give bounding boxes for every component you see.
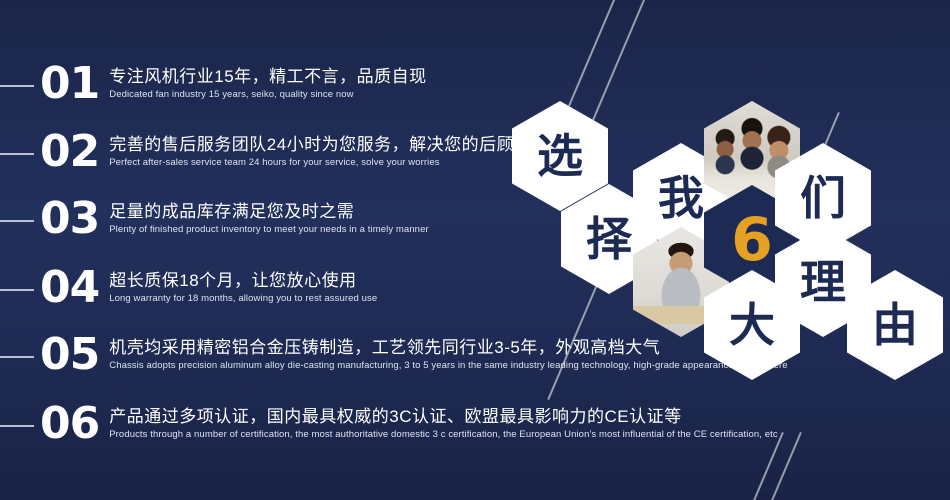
hex-glyph: 理 [800,259,846,305]
reason-text-block: 完善的售后服务团队24小时为您服务，解决您的后顾之忧 Perfect after… [109,134,549,170]
reason-lead-line [0,85,34,87]
reason-lead-line [0,289,34,291]
reason-title-en: Dedicated fan industry 15 years, seiko, … [109,89,426,101]
hex-glyph: 由 [872,302,918,348]
reason-text-block: 专注风机行业15年，精工不言，品质自现 Dedicated fan indust… [109,66,426,102]
hex-cell-photo-team [704,101,800,211]
reason-title-cn: 专注风机行业15年，精工不言，品质自现 [109,66,426,87]
reason-text-block: 机壳均采用精密铝合金压铸制造，工艺领先同行业3-5年，外观高档大气 Chassi… [109,337,787,373]
promo-banner: 01 专注风机行业15年，精工不言，品质自现 Dedicated fan ind… [0,0,950,500]
reason-title-en: Products through a number of certificati… [109,429,777,441]
reason-lead-line [0,356,34,358]
diagonal-line [589,0,649,127]
reason-number: 03 [40,197,99,241]
reason-lead-line [0,425,34,427]
hex-glyph-six: 6 [731,210,773,270]
hex-cell-you: 由 [847,270,943,380]
reason-row: 02 完善的售后服务团队24小时为您服务，解决您的后顾之忧 Perfect af… [0,115,549,189]
hex-glyph: 择 [586,216,632,262]
reason-text-block: 产品通过多项认证，国内最具权威的3C认证、欧盟最具影响力的CE认证等 Produ… [109,406,777,442]
reason-lead-line [0,153,34,155]
reason-title-cn: 产品通过多项认证，国内最具权威的3C认证、欧盟最具影响力的CE认证等 [109,406,777,427]
hex-cell-wo: 我 [633,143,729,253]
hex-cell-six: 6 [704,185,800,295]
hex-glyph: 我 [658,175,704,221]
reason-number: 06 [40,402,99,446]
diagonal-line [546,0,620,159]
reason-number: 04 [40,266,99,310]
reason-number: 05 [40,333,99,377]
hex-cell-ze: 择 [561,184,657,294]
reason-row: 05 机壳均采用精密铝合金压铸制造，工艺领先同行业3-5年，外观高档大气 Cha… [0,318,788,392]
reason-number: 01 [40,62,99,106]
reason-title-en: Perfect after-sales service team 24 hour… [109,157,549,169]
reason-text-block: 足量的成品库存满足您及时之需 Plenty of finished produc… [109,201,428,237]
reason-title-en: Plenty of finished product inventory to … [109,224,428,236]
hex-glyph: 们 [800,175,846,221]
diagonal-line [792,112,840,221]
reason-title-cn: 机壳均采用精密铝合金压铸制造，工艺领先同行业3-5年，外观高档大气 [109,337,787,358]
reason-row: 04 超长质保18个月，让您放心使用 Long warranty for 18 … [0,251,377,325]
reason-row: 01 专注风机行业15年，精工不言，品质自现 Dedicated fan ind… [0,47,427,121]
reason-row: 06 产品通过多项认证，国内最具权威的3C认证、欧盟最具影响力的CE认证等 Pr… [0,387,778,461]
reason-row: 03 足量的成品库存满足您及时之需 Plenty of finished pro… [0,182,429,256]
reason-number: 02 [40,130,99,174]
reason-text-block: 超长质保18个月，让您放心使用 Long warranty for 18 mon… [109,270,377,306]
hex-cell-men: 们 [775,143,871,253]
reason-title-cn: 超长质保18个月，让您放心使用 [109,270,377,291]
reason-title-en: Long warranty for 18 months, allowing yo… [109,293,377,305]
hex-cell-li: 理 [775,227,871,337]
reason-title-en: Chassis adopts precision aluminum alloy … [109,360,787,372]
reason-title-cn: 完善的售后服务团队24小时为您服务，解决您的后顾之忧 [109,134,549,155]
reason-lead-line [0,220,34,222]
reason-title-cn: 足量的成品库存满足您及时之需 [109,201,428,222]
